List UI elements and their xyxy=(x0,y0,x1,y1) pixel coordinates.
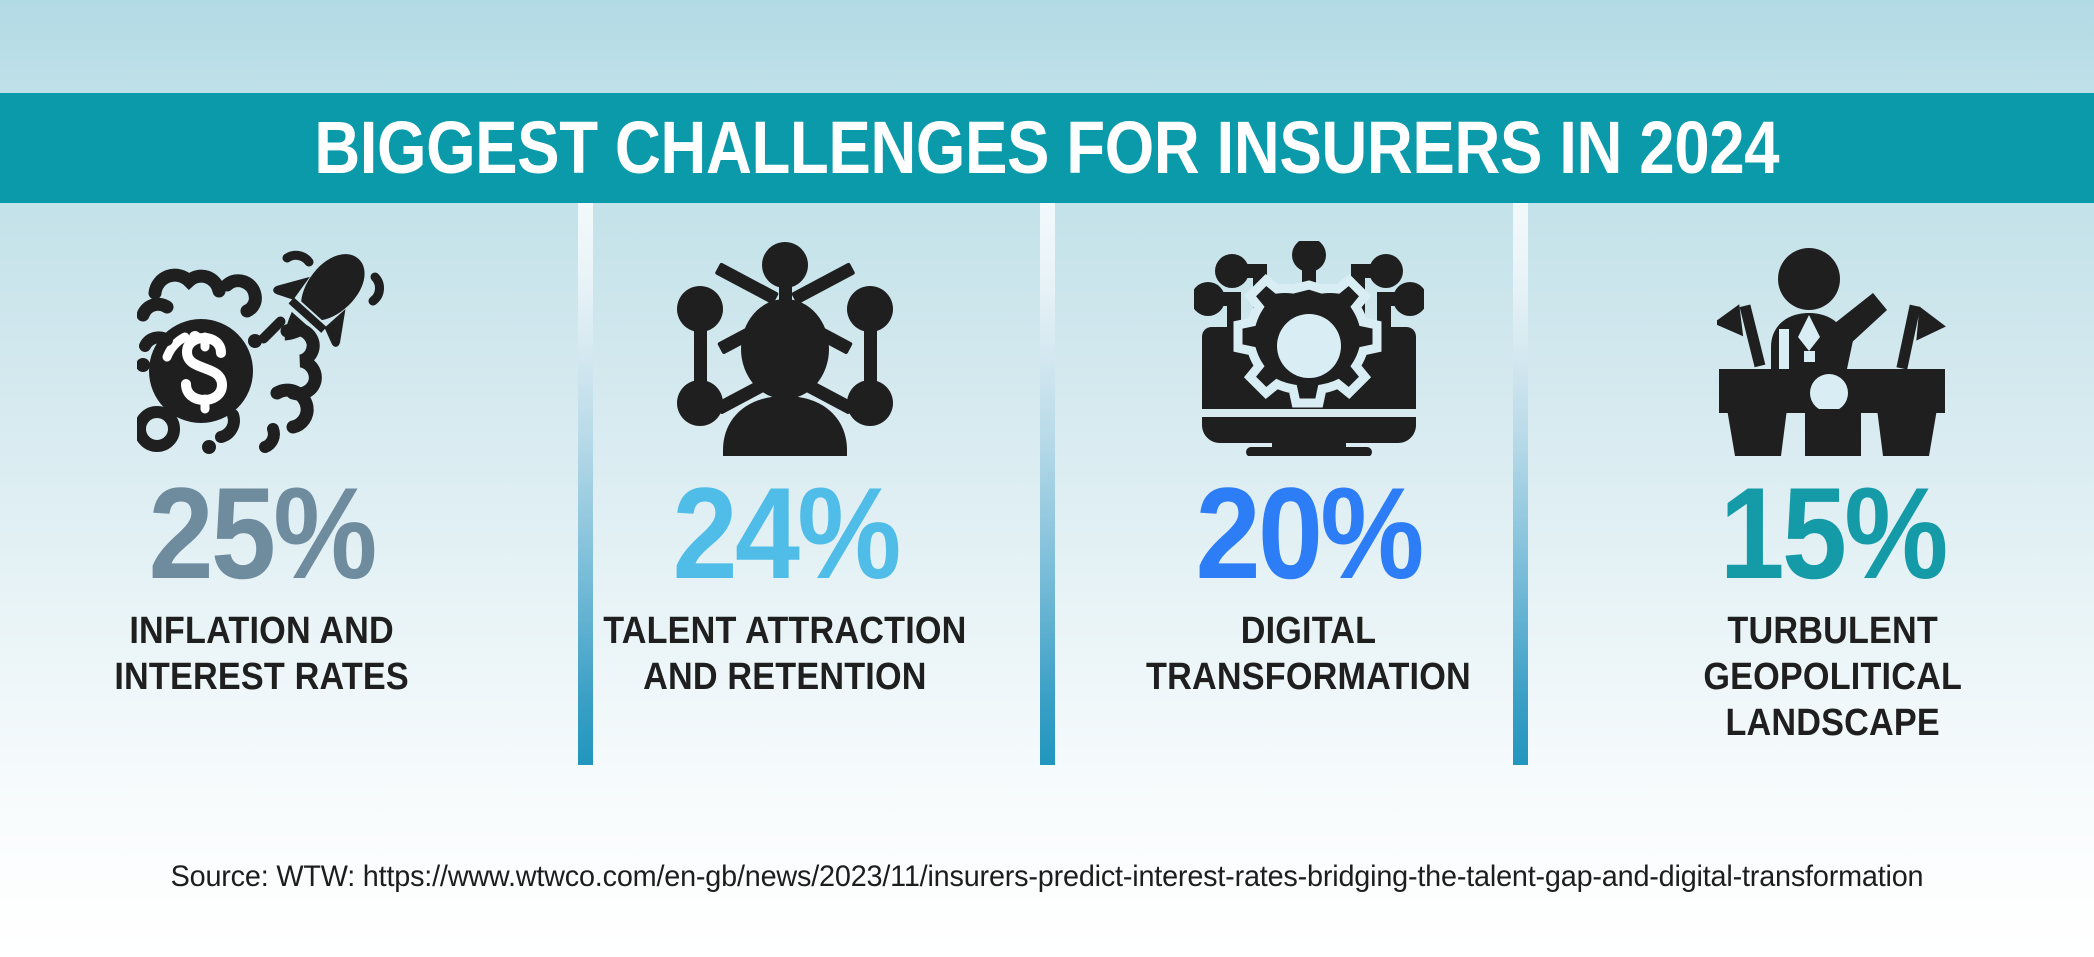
stat-percent: 25% xyxy=(149,472,375,596)
page-title: BIGGEST CHALLENGES FOR INSURERS IN 2024 xyxy=(315,111,1780,185)
stat-column-digital: 20% DIGITAL TRANSFORMATION xyxy=(1047,203,1571,823)
source-citation: Source: WTW: https://www.wtwco.com/en-gb… xyxy=(42,860,2052,894)
infographic-root: BIGGEST CHALLENGES FOR INSURERS IN 2024 xyxy=(0,0,2094,957)
stat-label: TALENT ATTRACTION AND RETENTION xyxy=(604,608,967,701)
stat-percent: 24% xyxy=(672,472,898,596)
stat-percent: 15% xyxy=(1719,472,1945,596)
stat-columns: 25% INFLATION AND INTEREST RATES xyxy=(0,203,2094,823)
stat-column-inflation: 25% INFLATION AND INTEREST RATES xyxy=(0,203,524,823)
monitor-gear-circuit-icon xyxy=(1194,228,1424,468)
people-network-icon xyxy=(670,228,900,468)
stat-label: DIGITAL TRANSFORMATION xyxy=(1146,608,1471,701)
rocket-money-inflation-icon xyxy=(137,228,387,468)
title-banner: BIGGEST CHALLENGES FOR INSURERS IN 2024 xyxy=(0,93,2094,203)
stat-column-geopolitical: 15% TURBULENT GEOPOLITICAL LANDSCAPE xyxy=(1571,203,2094,823)
stat-percent: 20% xyxy=(1196,472,1422,596)
stat-column-talent: 24% TALENT ATTRACTION AND RETENTION xyxy=(524,203,1048,823)
speaker-podium-flags-icon xyxy=(1717,228,1947,468)
stat-label: TURBULENT GEOPOLITICAL LANDSCAPE xyxy=(1703,608,1962,747)
stat-label: INFLATION AND INTEREST RATES xyxy=(114,608,409,701)
